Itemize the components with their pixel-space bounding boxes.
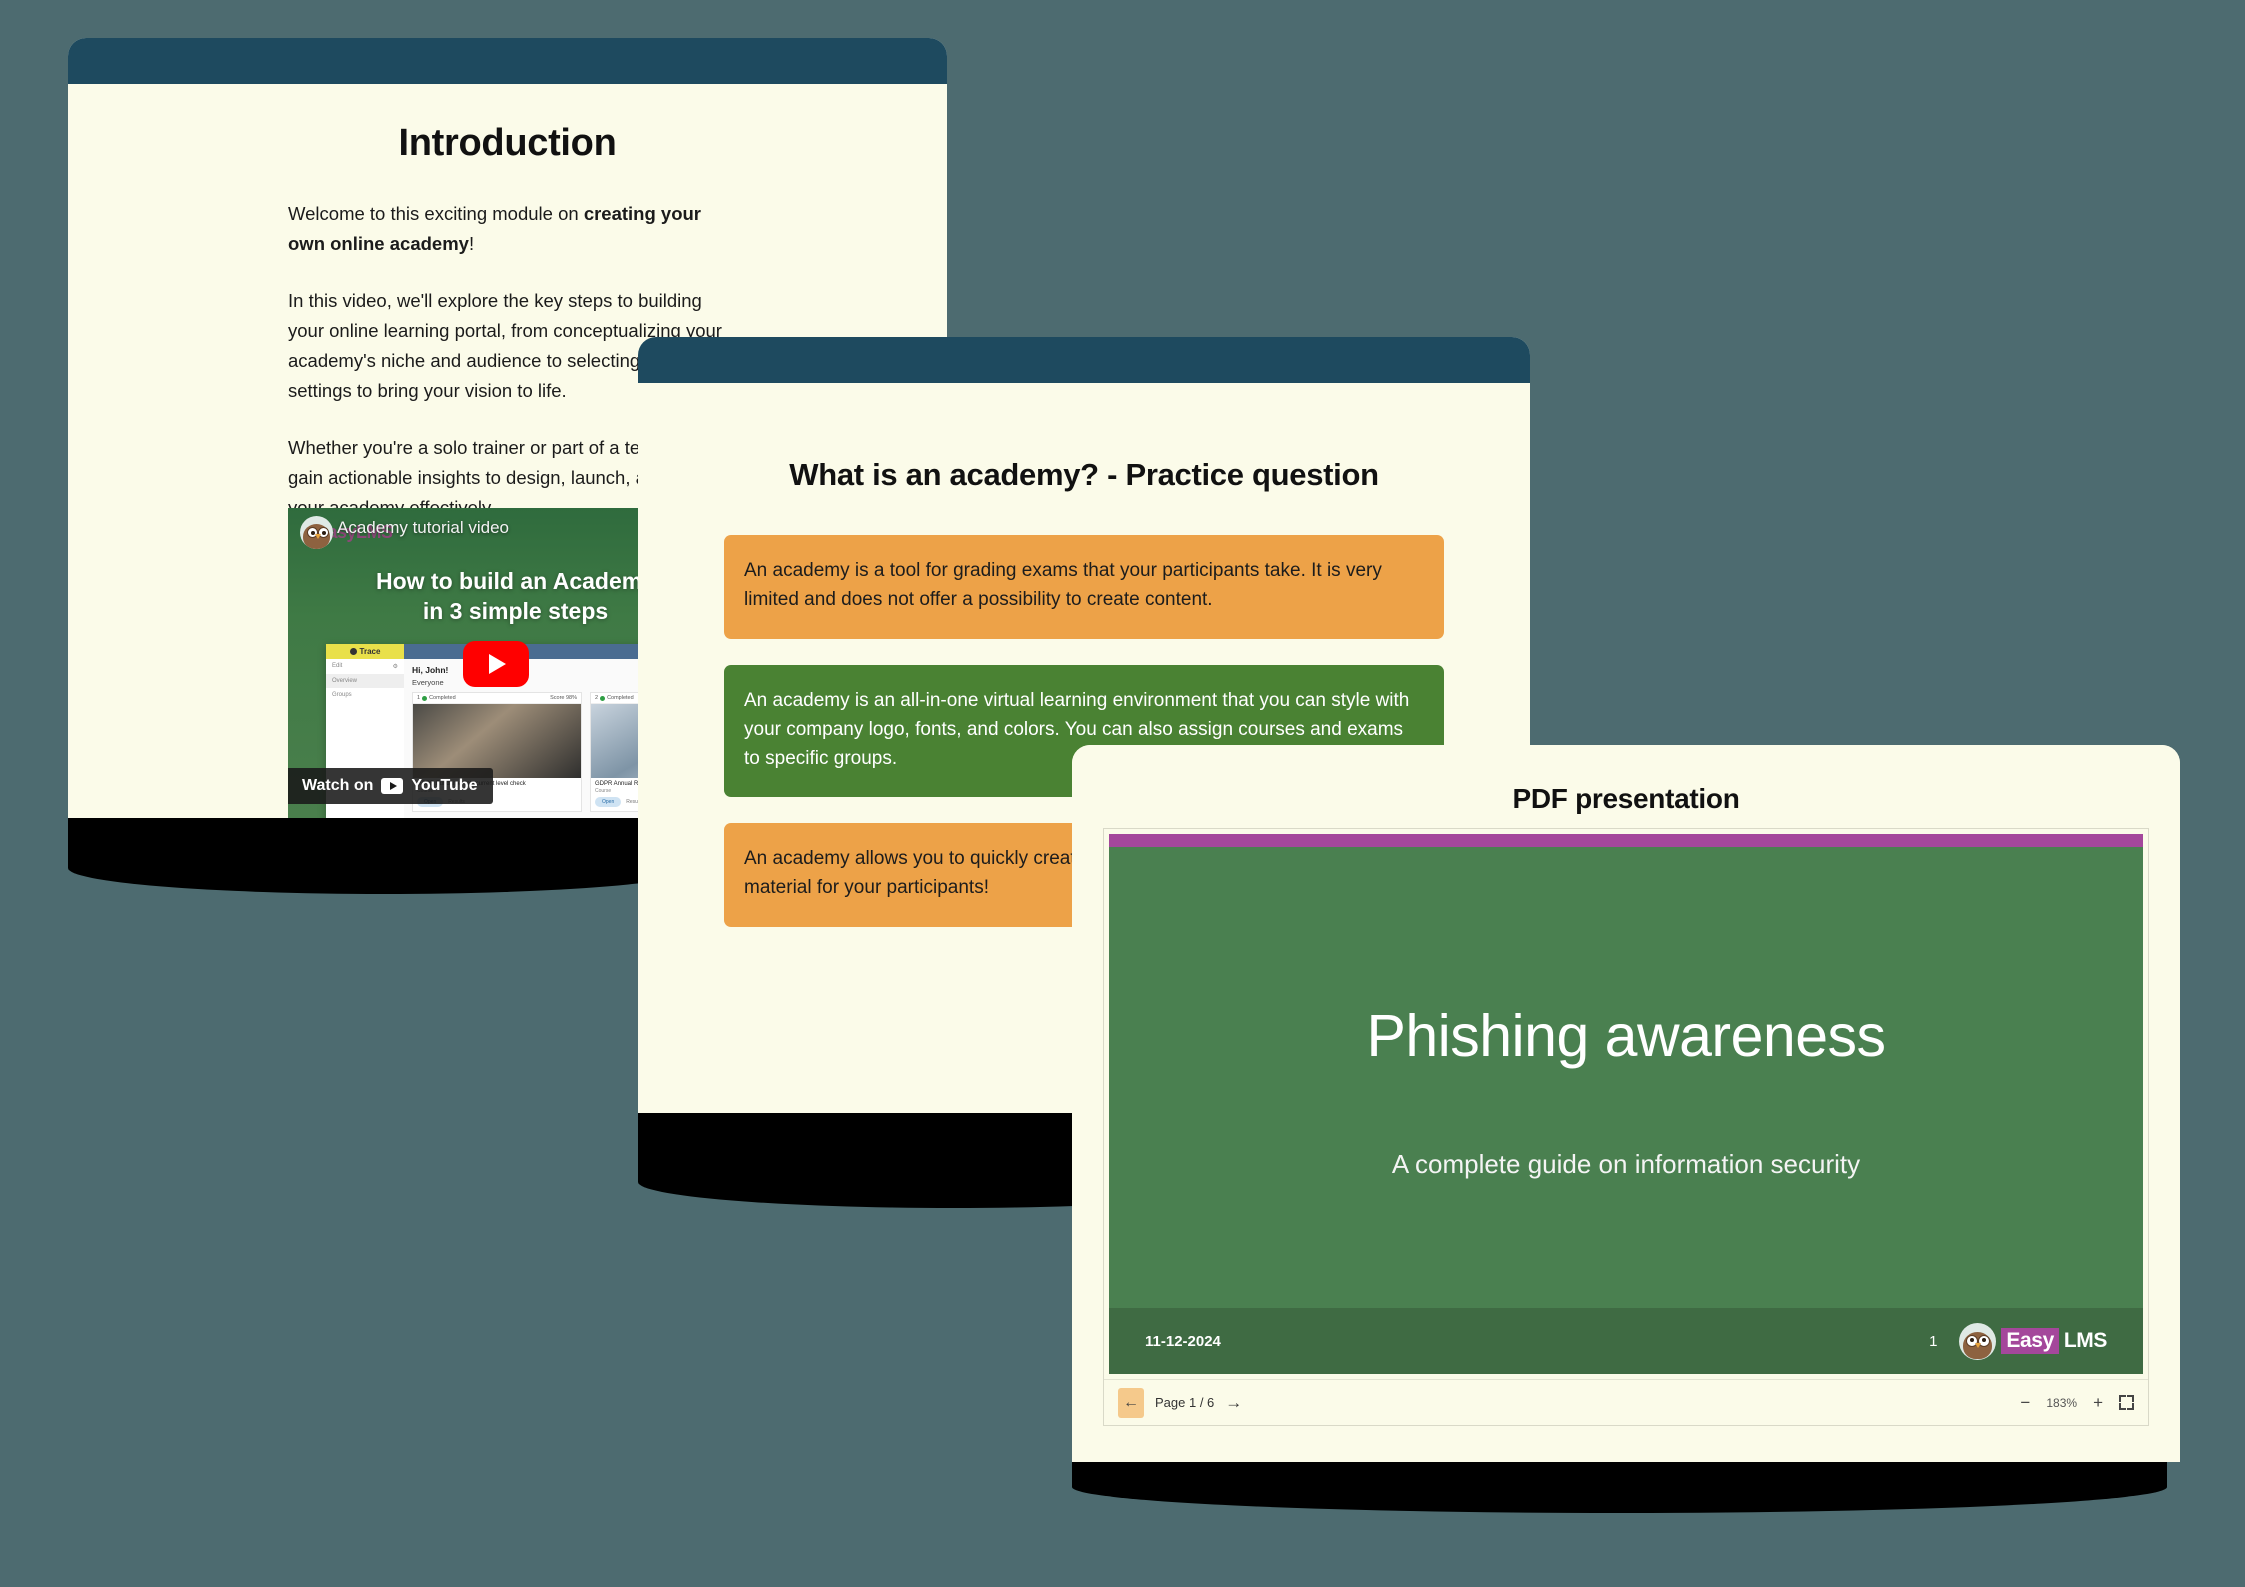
easylms-logo: Easy LMS <box>1959 1323 2107 1360</box>
owl-avatar-icon <box>300 516 333 549</box>
slide-accent-bar <box>1109 834 2143 847</box>
course-card-head: 1 Completed Score 98% <box>413 693 581 704</box>
fullscreen-icon[interactable] <box>2119 1395 2134 1410</box>
sidebar-item-edit: Edit ⚙ <box>326 659 404 674</box>
pdf-card-shadow <box>1072 1459 2167 1513</box>
pdf-toolbar-left: ← Page 1 / 6 → <box>1118 1388 1242 1418</box>
slide-footer: 11-12-2024 1 Easy LMS <box>1109 1308 2143 1374</box>
intro-p1-tail: ! <box>469 233 474 254</box>
sidebar-item-overview: Overview <box>326 674 404 688</box>
course-score: Score 98% <box>550 695 577 701</box>
intro-p1-lead: Welcome to this exciting module on <box>288 203 584 224</box>
youtube-icon <box>381 778 403 794</box>
trace-logo-label: Trace <box>360 647 381 656</box>
sidebar-item-groups-label: Groups <box>332 692 352 698</box>
course-status-label: Completed <box>607 695 634 701</box>
page-title: Introduction <box>68 122 947 165</box>
course-thumbnail <box>413 704 581 778</box>
slide-subtitle: A complete guide on information security <box>1109 1149 2143 1180</box>
answer-option-1[interactable]: An academy is a tool for grading exams t… <box>724 535 1444 639</box>
previous-page-button[interactable]: ← <box>1118 1388 1144 1418</box>
status-dot-icon <box>600 696 605 701</box>
pdf-title: PDF presentation <box>1072 783 2180 815</box>
gear-icon: ⚙ <box>393 663 398 670</box>
pdf-slide: Phishing awareness A complete guide on i… <box>1109 834 2143 1374</box>
youtube-label: YouTube <box>411 777 477 795</box>
pdf-presentation-card[interactable]: PDF presentation Phishing awareness A co… <box>1072 745 2180 1462</box>
status-dot-icon <box>422 696 427 701</box>
brand-lms-label: LMS <box>2064 1329 2107 1353</box>
pdf-toolbar[interactable]: ← Page 1 / 6 → − 183% + <box>1104 1379 2148 1425</box>
course-status-badge: 2 Completed <box>595 695 634 701</box>
slide-title: Phishing awareness <box>1109 1002 2143 1070</box>
question-title: What is an academy? - Practice question <box>638 457 1530 493</box>
pdf-toolbar-right: − 183% + <box>2020 1393 2134 1413</box>
pdf-card-body: PDF presentation Phishing awareness A co… <box>1072 745 2180 1462</box>
course-status-badge: 1 Completed <box>417 695 456 701</box>
zoom-out-button[interactable]: − <box>2020 1393 2030 1413</box>
brand-easy-label: Easy <box>2001 1328 2058 1354</box>
course-index: 2 <box>595 695 598 701</box>
watch-on-youtube-button[interactable]: Watch on YouTube <box>288 768 493 804</box>
trace-logo: Trace <box>326 644 404 659</box>
video-title[interactable]: Academy tutorial video <box>337 518 509 538</box>
slide-footer-right: 1 Easy LMS <box>1929 1323 2107 1360</box>
trace-logo-mark <box>350 648 357 655</box>
course-open-button: Open <box>595 797 621 807</box>
sidebar-item-overview-label: Overview <box>332 678 357 684</box>
next-page-button[interactable]: → <box>1225 1393 1242 1413</box>
page-indicator: Page 1 / 6 <box>1155 1395 1214 1410</box>
zoom-level-label: 183% <box>2046 1396 2077 1410</box>
intro-card-header <box>68 38 947 84</box>
slide-page-number: 1 <box>1929 1333 1937 1350</box>
play-button-icon[interactable] <box>463 641 529 687</box>
question-card-header <box>638 337 1530 383</box>
intro-paragraph-1: Welcome to this exciting module on creat… <box>288 199 727 259</box>
zoom-in-button[interactable]: + <box>2093 1393 2103 1413</box>
watch-on-label: Watch on <box>302 777 373 795</box>
pdf-viewer[interactable]: Phishing awareness A complete guide on i… <box>1103 828 2149 1426</box>
intro-card-shadow <box>68 812 700 894</box>
slide-date: 11-12-2024 <box>1145 1333 1221 1350</box>
owl-avatar-icon <box>1959 1323 1996 1360</box>
sidebar-item-edit-label: Edit <box>332 663 342 670</box>
course-status-label: Completed <box>429 695 456 701</box>
course-index: 1 <box>417 695 420 701</box>
sidebar-item-groups: Groups <box>326 688 404 702</box>
